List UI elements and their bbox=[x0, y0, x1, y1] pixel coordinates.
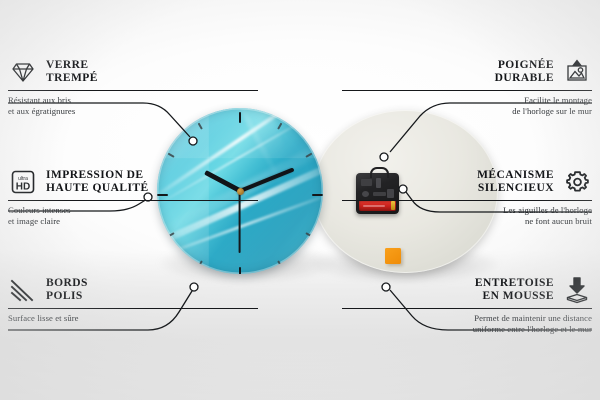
foam-spacer bbox=[385, 248, 401, 264]
feature-title: ENTRETOISE EN MOUSSE bbox=[475, 277, 554, 303]
feature-sub-line1: Résistant aux bris bbox=[8, 95, 258, 105]
feature-bords-polis: BORDS POLIS Surface lisse et sûre bbox=[8, 276, 258, 324]
infographic-canvas: VERRE TREMPÉ Résistant aux bris et aux é… bbox=[0, 0, 600, 400]
divider bbox=[8, 200, 258, 201]
feature-poignee-durable: POIGNÉE DURABLE Facilite le montage de l… bbox=[342, 58, 592, 116]
feature-sub-line2: de l'horloge sur le mur bbox=[342, 106, 592, 116]
hanging-picture-icon bbox=[562, 58, 592, 86]
svg-text:HD: HD bbox=[16, 182, 30, 193]
feature-sub-line2: uniforme entre l'horloge et le mur bbox=[342, 324, 592, 334]
feature-entretoise-en-mousse: ENTRETOISE EN MOUSSE Permet de maintenir… bbox=[342, 276, 592, 334]
feature-header: POIGNÉE DURABLE bbox=[342, 58, 592, 86]
feature-header: MÉCANISME SILENCIEUX bbox=[342, 168, 592, 196]
feature-sub-line2: et aux égratignures bbox=[8, 106, 258, 116]
feature-header: VERRE TREMPÉ bbox=[8, 58, 258, 86]
feature-sub-line1: Permet de maintenir une distance bbox=[342, 313, 592, 323]
feature-sub-line1: Couleurs intenses bbox=[8, 205, 258, 215]
feature-sub-line1: Facilite le montage bbox=[342, 95, 592, 105]
feature-impression-haute-qualite: ultra HD IMPRESSION DE HAUTE QUALITÉ Cou… bbox=[8, 168, 258, 226]
feature-sub-line1: Les aiguilles de l'horloge bbox=[342, 205, 592, 215]
down-arrow-pad-icon bbox=[562, 276, 592, 304]
feature-sub-line2: ne font aucun bruit bbox=[342, 216, 592, 226]
gear-icon bbox=[562, 168, 592, 196]
feature-title: MÉCANISME SILENCIEUX bbox=[477, 169, 554, 195]
feature-header: ENTRETOISE EN MOUSSE bbox=[342, 276, 592, 304]
ultra-hd-icon: ultra HD bbox=[8, 168, 38, 196]
divider bbox=[8, 90, 258, 91]
feature-sub-line2: et image claire bbox=[8, 216, 258, 226]
feature-sub-line1: Surface lisse et sûre bbox=[8, 313, 258, 323]
feature-mecanisme-silencieux: MÉCANISME SILENCIEUX Les aiguilles de l'… bbox=[342, 168, 592, 226]
feature-verre-trempe: VERRE TREMPÉ Résistant aux bris et aux é… bbox=[8, 58, 258, 116]
feature-header: BORDS POLIS bbox=[8, 276, 258, 304]
feature-title: VERRE TREMPÉ bbox=[46, 59, 98, 85]
divider bbox=[342, 308, 592, 309]
feature-title: BORDS POLIS bbox=[46, 277, 88, 303]
feature-title: IMPRESSION DE HAUTE QUALITÉ bbox=[46, 169, 149, 195]
feature-title: POIGNÉE DURABLE bbox=[495, 59, 554, 85]
divider bbox=[342, 90, 592, 91]
divider bbox=[8, 308, 258, 309]
diamond-icon bbox=[8, 58, 38, 86]
diagonal-lines-icon bbox=[8, 276, 38, 304]
divider bbox=[342, 200, 592, 201]
feature-header: ultra HD IMPRESSION DE HAUTE QUALITÉ bbox=[8, 168, 258, 196]
